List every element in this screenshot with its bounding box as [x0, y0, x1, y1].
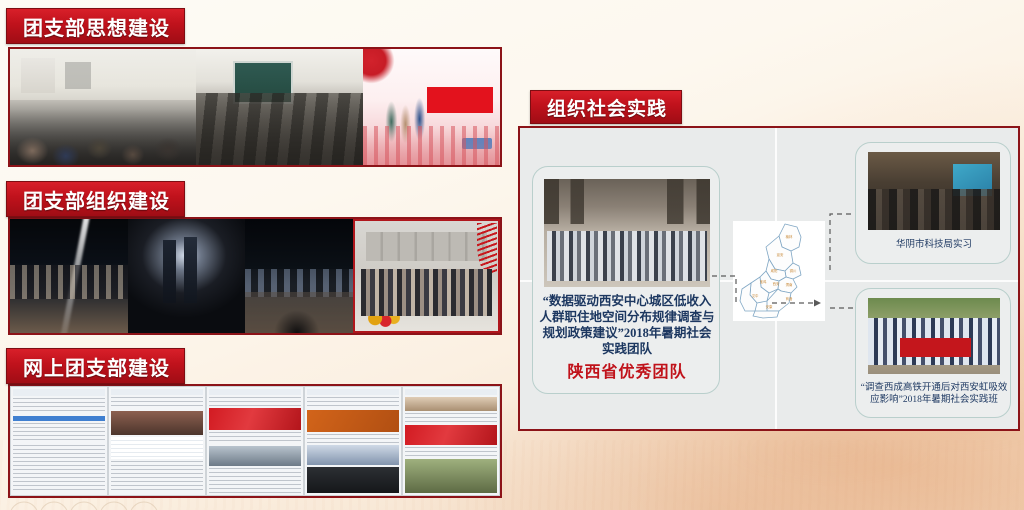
night-field-photo [10, 219, 128, 333]
presentation-slide: 团支部思想建设 团支部组织建设 网上团支部建设 [0, 0, 1024, 510]
team-red-banner [581, 256, 674, 274]
group-photo-red-frame [353, 219, 500, 333]
section-label-online: 网上团支部建设 [6, 348, 185, 384]
practice-card-huayin-caption: 华阴市科技局实习 [862, 239, 1006, 251]
svg-text:安康: 安康 [766, 304, 773, 309]
section-label-practice-text: 组织社会实践 [547, 94, 667, 121]
svg-text:榆林: 榆林 [786, 234, 793, 239]
lecture-hall-photo [868, 152, 1000, 230]
red-theme-slide-photo [363, 49, 500, 165]
section-label-practice: 组织社会实践 [530, 90, 682, 124]
practice-card-main-award: 陕西省优秀团队 [538, 363, 716, 383]
slide-illustration-figures [382, 82, 429, 147]
web-screenshot-column [11, 387, 107, 495]
practice-panel: “数据驱动西安中心城区低收入人群职住地空间分布规律调查与规划政策建议”2018年… [518, 126, 1020, 431]
group-photo-swirl-decoration [477, 223, 497, 274]
night-performance-photo [128, 219, 246, 333]
svg-text:宝鸡: 宝鸡 [760, 279, 767, 284]
section-label-organization-text: 团支部组织建设 [23, 185, 170, 214]
section-label-online-text: 网上团支部建设 [23, 352, 170, 381]
section-label-ideological-text: 团支部思想建设 [23, 12, 170, 41]
svg-text:汉中: 汉中 [752, 293, 759, 298]
classroom-lecture-photo [10, 49, 196, 165]
slide-blue-button [462, 138, 492, 148]
practice-card-huayin-internship: 华阴市科技局实习 [855, 142, 1011, 264]
web-screenshot-mosaic [10, 386, 500, 496]
svg-text:延安: 延安 [777, 252, 784, 257]
svg-text:商洛: 商洛 [786, 296, 793, 301]
svg-text:铜川: 铜川 [790, 268, 797, 273]
shaanxi-map-svg: 榆林 延安 铜川 咸阳 渭南 宝鸡 西安 商洛 汉中 安康 [733, 221, 825, 321]
practice-card-xicheng-caption: “调查西成高铁开通后对西安虹吸效应影响”2018年暑期社会实践班 [860, 382, 1008, 406]
classroom-seats-photo [196, 49, 363, 165]
web-screenshot-column [305, 387, 401, 495]
section-label-organization: 团支部组织建设 [6, 181, 185, 217]
night-crowd-photo [245, 219, 353, 333]
web-screenshot-grid [10, 386, 500, 496]
practice-card-xicheng-railway: “调查西成高铁开通后对西安虹吸效应影响”2018年暑期社会实践班 [855, 288, 1011, 418]
students-banner-photo [868, 298, 1000, 374]
web-screenshot-column [403, 387, 499, 495]
svg-text:西安: 西安 [773, 281, 780, 286]
practice-card-main-caption: “数据驱动西安中心城区低收入人群职住地空间分布规律调查与规划政策建议”2018年… [538, 293, 716, 357]
shaanxi-province-map: 榆林 延安 铜川 咸阳 渭南 宝鸡 西安 商洛 汉中 安康 [733, 221, 825, 321]
photo-panel-ideological [8, 47, 502, 167]
photo-panel-organization [8, 217, 502, 335]
section-label-ideological: 团支部思想建设 [6, 8, 185, 44]
practice-card-main-team: “数据驱动西安中心城区低收入人群职住地空间分布规律调查与规划政策建议”2018年… [532, 166, 720, 394]
svg-text:咸阳: 咸阳 [771, 268, 778, 273]
slide-red-banner [427, 87, 493, 113]
svg-text:渭南: 渭南 [786, 282, 793, 287]
photo-panel-online [8, 384, 502, 498]
web-screenshot-column [109, 387, 205, 495]
web-screenshot-column [207, 387, 303, 495]
team-group-photo [544, 179, 710, 287]
group-photo-flower-decoration [364, 302, 401, 328]
